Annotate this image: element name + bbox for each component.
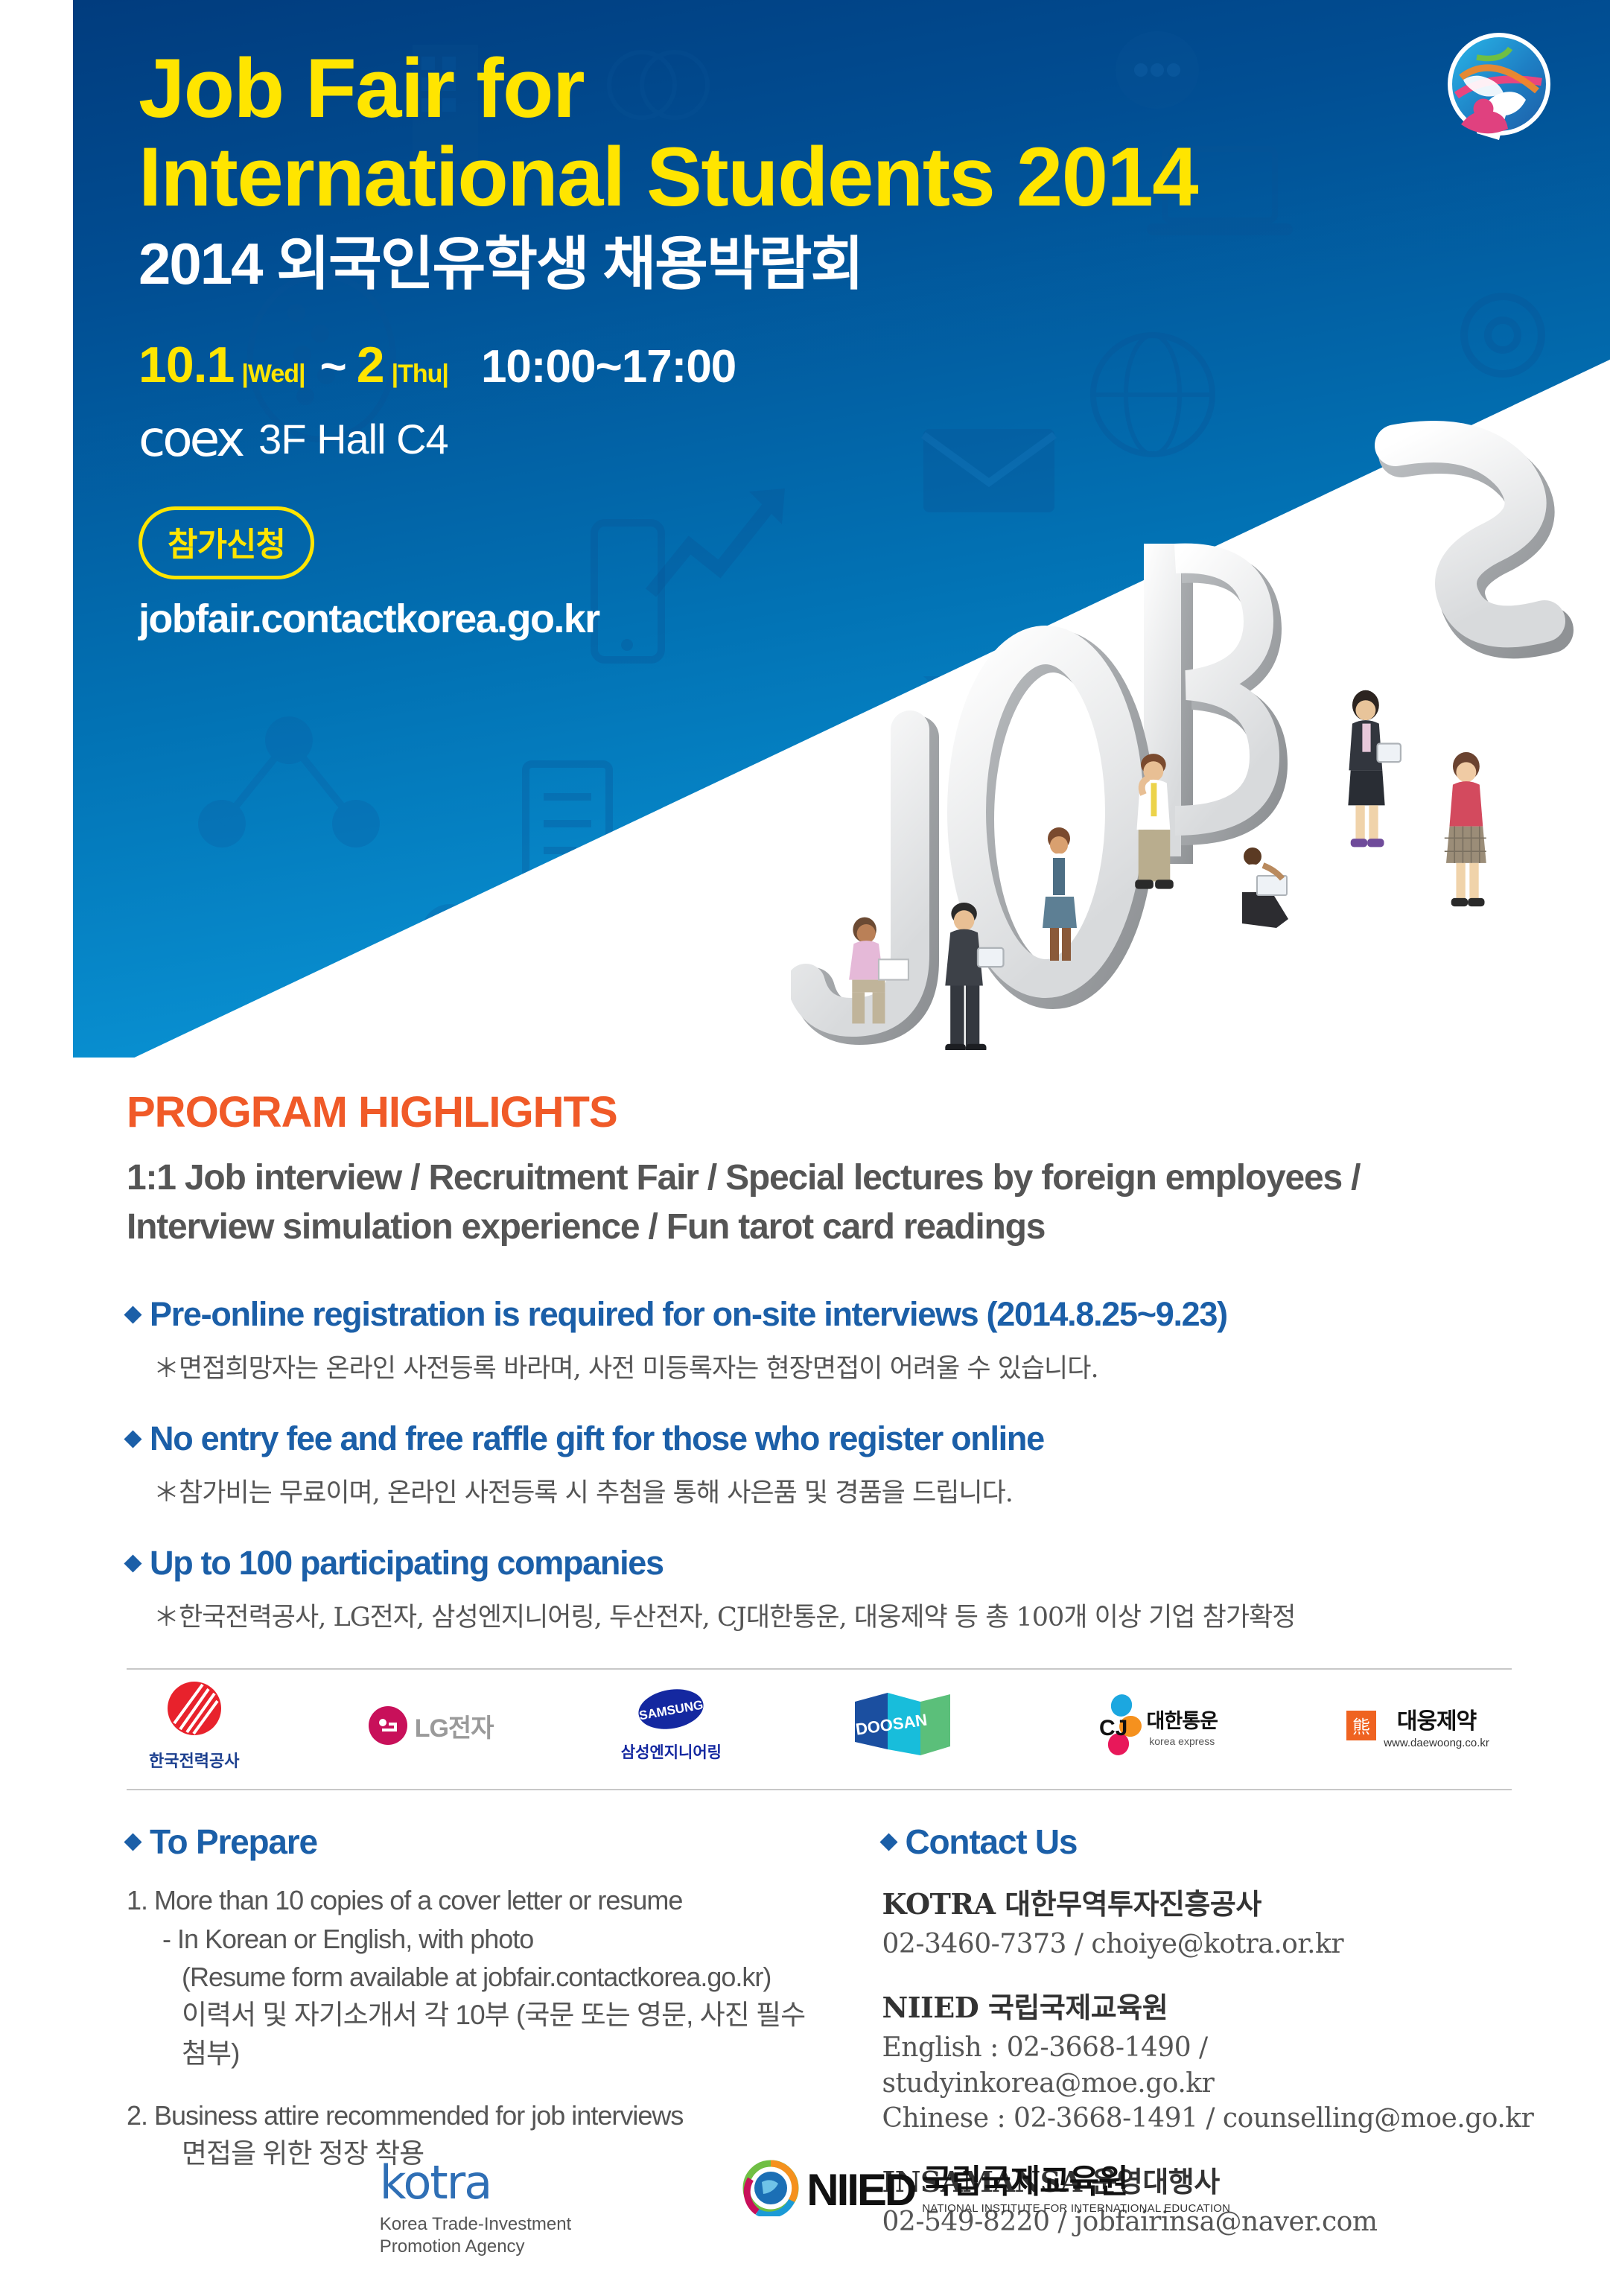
registration-pill-button[interactable]: 참가신청	[139, 506, 314, 579]
event-hours: 10:00~17:00	[481, 340, 736, 393]
date-range-tilde: ~	[320, 340, 346, 393]
bullet-heading-text: Up to 100 participating companies	[150, 1544, 664, 1583]
prepare-heading: To Prepare	[127, 1822, 830, 1862]
program-highlights-heading: PROGRAM HIGHLIGHTS	[127, 1087, 1610, 1137]
contact-group: NIIED 국립국제교육원 English : 02-3668-1490 / s…	[882, 1985, 1541, 2137]
kotra-logo: kotra Korea Trade-Investment Promotion A…	[380, 2160, 571, 2258]
bullet-item: Pre-online registration is required for …	[127, 1295, 1512, 1385]
event-date-time: 10.1 |Wed| ~ 2 |Thu| 10:00~17:00	[139, 336, 1610, 394]
diamond-bullet-icon	[124, 1306, 141, 1323]
prepare-line: 2. Business attire recommended for job i…	[127, 2096, 830, 2134]
prepare-line-korean: 이력서 및 자기소개서 각 10부 (국문 또는 영문, 사진 필수 첨부)	[127, 1996, 830, 2074]
kotra-tagline: Korea Trade-Investment Promotion Agency	[380, 2213, 571, 2258]
bullet-heading-text: Pre-online registration is required for …	[150, 1295, 1227, 1334]
diamond-bullet-icon	[124, 1833, 141, 1851]
prepare-item: 1. More than 10 copies of a cover letter…	[127, 1881, 830, 2073]
kepco-label: 한국전력공사	[149, 1748, 239, 1772]
contact-org: NIIED 국립국제교육원	[882, 1985, 1541, 2026]
prepare-line: (Resume form available at jobfair.contac…	[127, 1958, 830, 1996]
page-title-korean: 2014 외국인유학생 채용박람회	[139, 232, 1610, 296]
daewoong-label: 대웅제약	[1384, 1702, 1489, 1735]
diamond-bullet-icon	[879, 1833, 897, 1851]
event-date-end: 2	[357, 336, 384, 394]
prepare-line: 1. More than 10 copies of a cover letter…	[127, 1881, 830, 1919]
svg-text:熊: 熊	[1352, 1717, 1370, 1737]
cj-sublabel: korea express	[1147, 1735, 1218, 1747]
contact-org-ko: 대한무역투자진흥공사	[1005, 1887, 1261, 1921]
contact-org-ko: 국립국제교육원	[988, 1991, 1168, 2024]
bullet-heading: Pre-online registration is required for …	[127, 1295, 1512, 1334]
event-day-start: |Wed|	[241, 360, 305, 389]
svg-text:CJ: CJ	[1099, 1716, 1127, 1740]
divider-bottom	[127, 1789, 1512, 1790]
samsung-eng-label: 삼성엔지니어링	[621, 1740, 722, 1763]
contact-org-en: NIIED	[882, 1991, 979, 2024]
bullet-heading: Up to 100 participating companies	[127, 1544, 1512, 1583]
jobs-illustration	[791, 417, 1603, 1050]
bullet-item: No entry fee and free raffle gift for th…	[127, 1419, 1512, 1510]
contact-line[interactable]: Chinese : 02-3668-1491 / counselling@moe…	[882, 2101, 1541, 2137]
niied-korean-name: 국립국제교육원	[922, 2166, 1230, 2198]
footer-logos: kotra Korea Trade-Investment Promotion A…	[0, 2145, 1610, 2294]
daewoong-url: www.daewoong.co.kr	[1384, 1737, 1489, 1749]
content-area: PROGRAM HIGHLIGHTS 1:1 Job interview / R…	[0, 1065, 1610, 2262]
contact-heading-text: Contact Us	[906, 1822, 1078, 1862]
daewoong-pharmaceutical-logo: 熊 대웅제약 www.daewoong.co.kr	[1345, 1702, 1489, 1749]
doosan-logo: DOOSAN	[849, 1690, 961, 1762]
lg-label: LG전자	[415, 1708, 494, 1744]
bullet-note: ＊면접희망자는 온라인 사전등록 바라며, 사전 미등록자는 현장면접이 어려울…	[153, 1347, 1512, 1385]
network-nodes-watermark-icon	[192, 707, 386, 856]
lg-electronics-logo: LG전자	[367, 1705, 494, 1746]
cj-korea-express-logo: CJ 대한통운 korea express	[1089, 1694, 1218, 1758]
event-day-end: |Thu|	[392, 360, 448, 389]
hero-banner: Job Fair for International Students 2014…	[73, 0, 1610, 1058]
niied-korean-block: 국립국제교육원 NATIONAL INSTITUTE FOR INTERNATI…	[922, 2166, 1230, 2214]
niied-logo: NIIED 국립국제교육원 NATIONAL INSTITUTE FOR INT…	[742, 2160, 1230, 2220]
diamond-bullet-icon	[124, 1554, 141, 1572]
program-highlights-body: 1:1 Job interview / Recruitment Fair / S…	[127, 1154, 1527, 1252]
contact-korea-globe-logo	[1443, 28, 1555, 140]
venue-hall: 3F Hall C4	[258, 415, 448, 463]
niied-wordmark: NIIED	[806, 2168, 914, 2213]
niied-english-name: NATIONAL INSTITUTE FOR INTERNATIONAL EDU…	[922, 2203, 1230, 2214]
bullet-note: ＊참가비는 무료이며, 온라인 사전등록 시 추첨을 통해 사은품 및 경품을 …	[153, 1472, 1512, 1510]
poster-root: Job Fair for International Students 2014…	[0, 0, 1610, 2296]
kotra-wordmark: kotra	[380, 2160, 571, 2206]
contact-line[interactable]: English : 02-3668-1490 / studyinkorea@mo…	[882, 2030, 1541, 2101]
contact-line[interactable]: 02-3460-7373 / choiye@kotra.or.kr	[882, 1927, 1541, 1962]
contact-group: KOTRA 대한무역투자진흥공사 02-3460-7373 / choiye@k…	[882, 1881, 1541, 1962]
prepare-heading-text: To Prepare	[150, 1822, 317, 1862]
diamond-bullet-icon	[124, 1430, 141, 1448]
niied-globe-icon	[742, 2160, 799, 2220]
event-date-start: 10.1	[139, 336, 234, 394]
coex-logo: coex	[139, 410, 242, 468]
company-logo-row: 한국전력공사 LG전자 SAMSUNG 삼성엔지니어링	[127, 1670, 1512, 1781]
prepare-line: - In Korean or English, with photo	[127, 1920, 830, 1958]
contact-heading: Contact Us	[882, 1822, 1541, 1862]
bullet-heading: No entry fee and free raffle gift for th…	[127, 1419, 1512, 1458]
bullet-note: ＊한국전력공사, LG전자, 삼성엔지니어링, 두산전자, CJ대한통운, 대웅…	[153, 1596, 1512, 1634]
samsung-engineering-logo: SAMSUNG 삼성엔지니어링	[621, 1688, 722, 1763]
contact-org: KOTRA 대한무역투자진흥공사	[882, 1881, 1541, 1922]
bullet-item: Up to 100 participating companies ＊한국전력공…	[127, 1544, 1512, 1634]
kepco-logo: 한국전력공사	[149, 1680, 239, 1772]
bullet-list: Pre-online registration is required for …	[127, 1295, 1512, 1634]
bullet-heading-text: No entry fee and free raffle gift for th…	[150, 1419, 1044, 1458]
cj-label: 대한통운	[1147, 1705, 1218, 1734]
page-title: Job Fair for International Students 2014	[139, 45, 1610, 221]
contact-org-en: KOTRA	[882, 1887, 996, 1921]
